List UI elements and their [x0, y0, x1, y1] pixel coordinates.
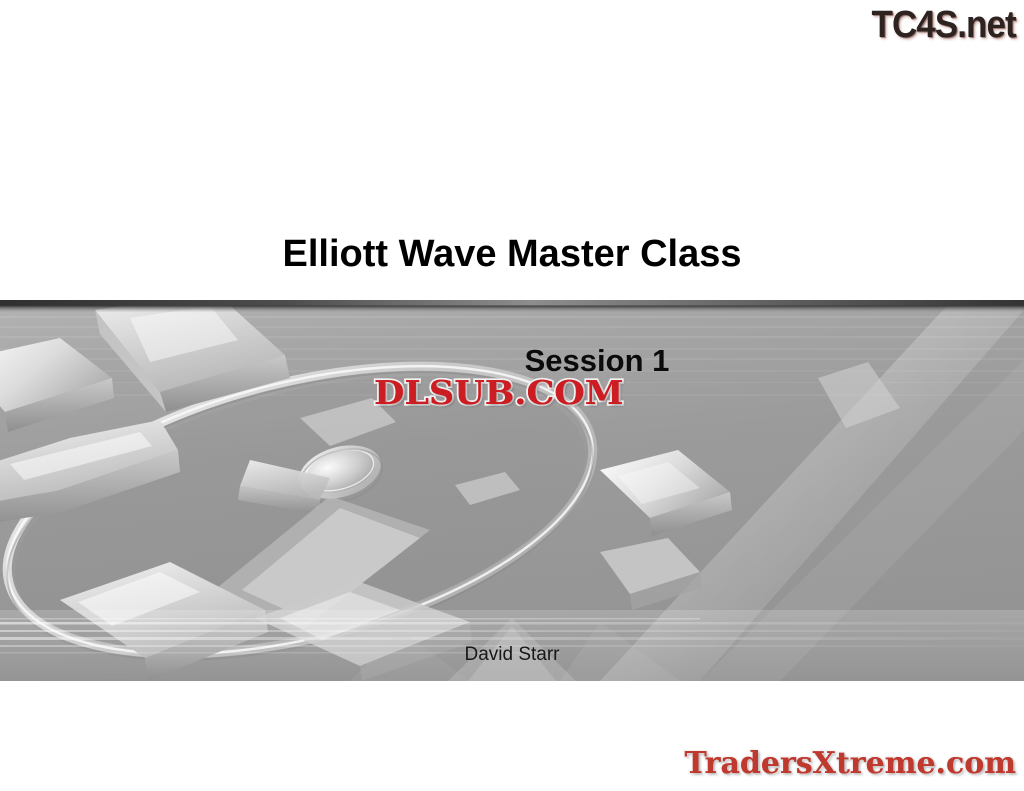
- tradersxtreme-logo: TradersXtreme.com TradersXtreme.com: [685, 745, 1016, 783]
- tc4s-logo: TC4S.net: [872, 2, 1016, 48]
- dlsub-watermark-fill: DLSUB.COM: [374, 373, 623, 413]
- page-title: Elliott Wave Master Class: [0, 231, 1024, 277]
- presenter-name: David Starr: [0, 643, 1024, 667]
- tradersxtreme-logo-fill: TradersXtreme.com: [685, 745, 1016, 783]
- presentation-slide: TC4S.net Elliott Wave Master Class: [0, 0, 1024, 791]
- dlsub-watermark: DLSUB.COM DLSUB.COM: [374, 373, 623, 413]
